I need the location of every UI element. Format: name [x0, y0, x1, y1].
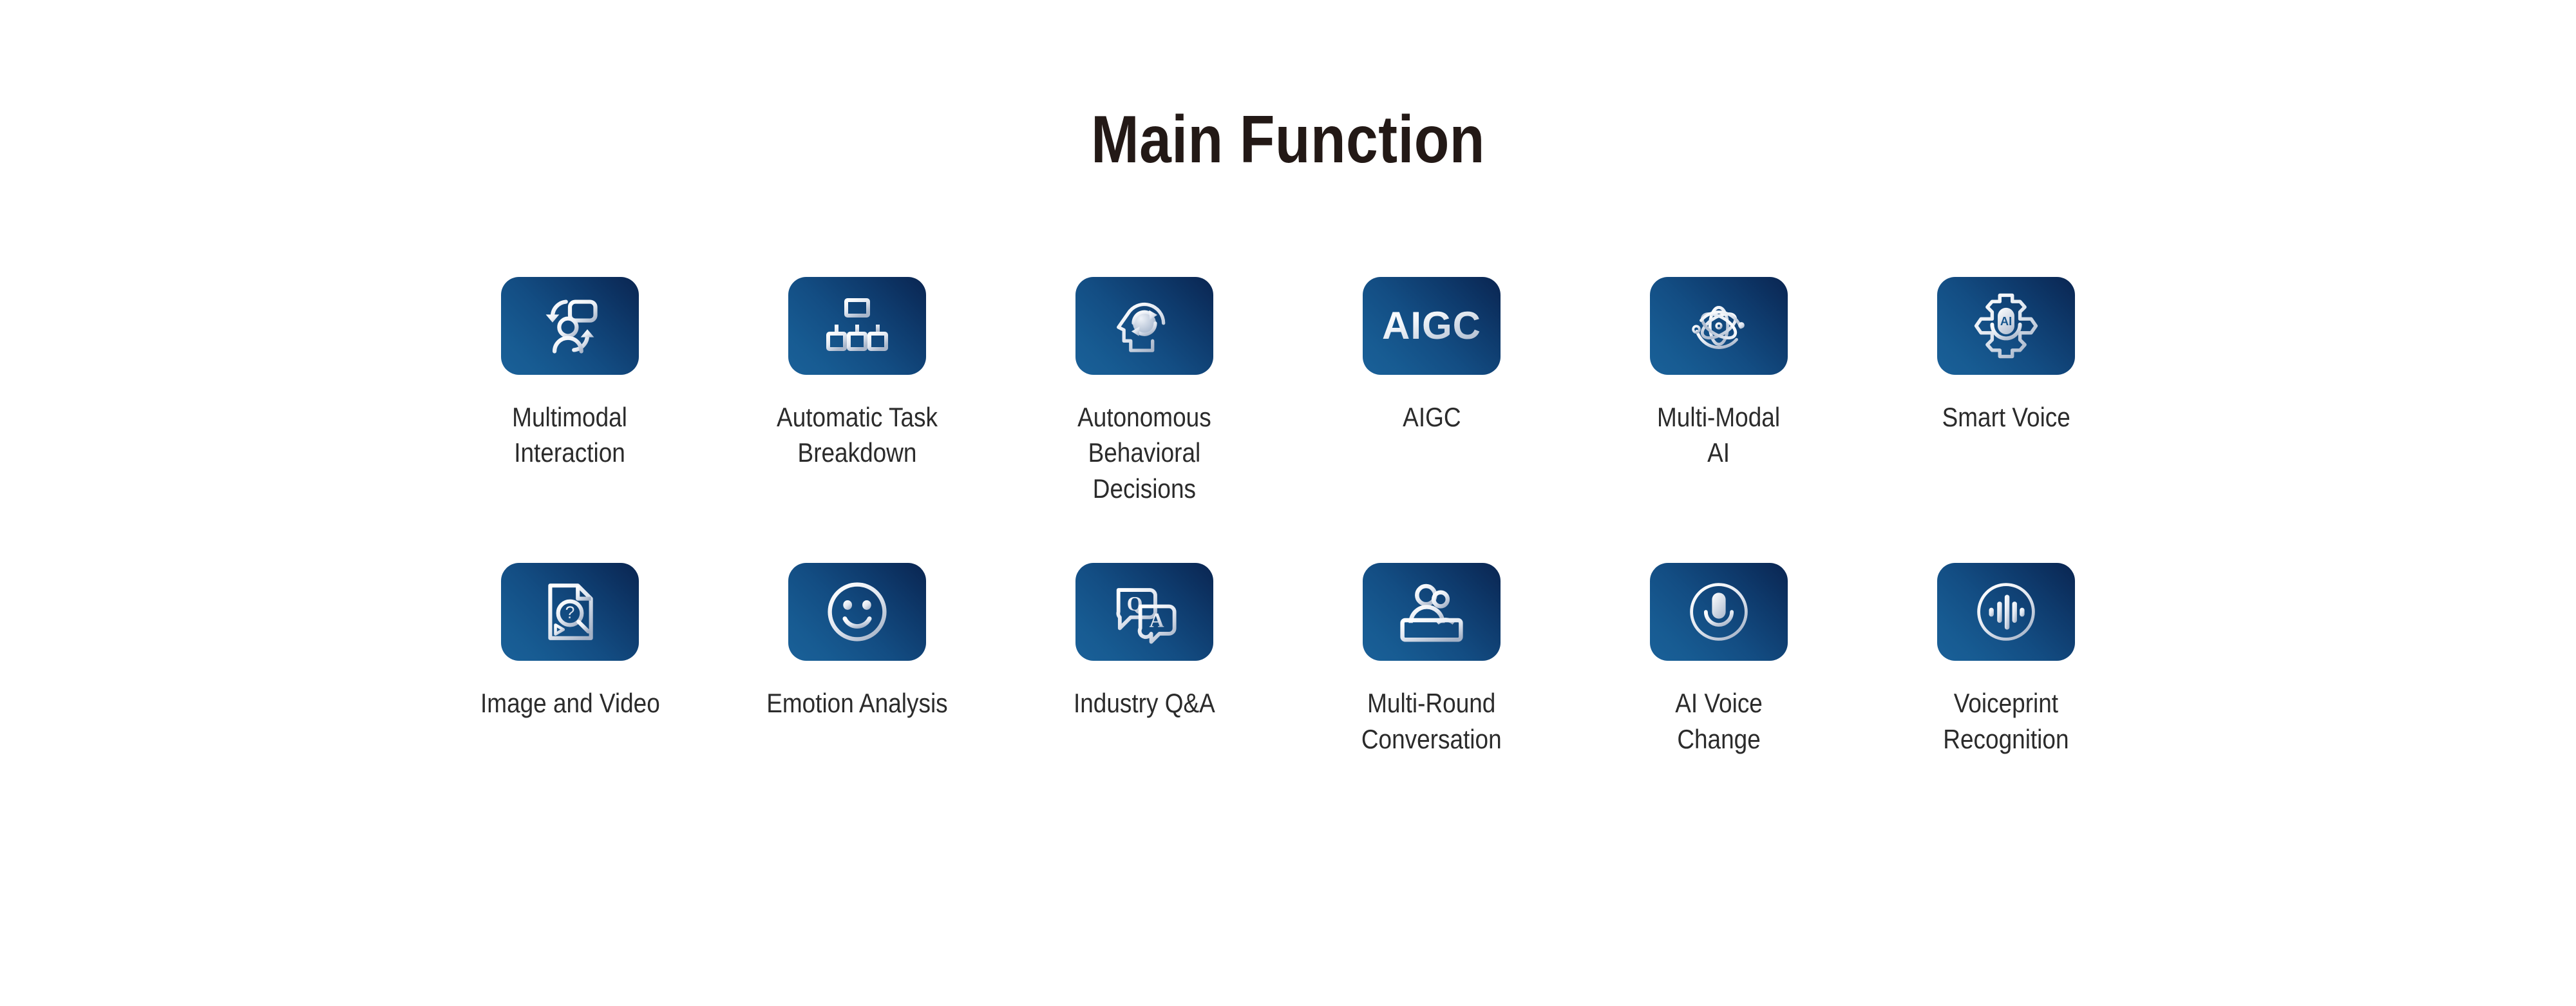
atom-orbit-icon [1685, 292, 1753, 360]
feature-item-multi-round-conversation[interactable]: Multi-Round Conversation [1288, 563, 1575, 757]
feature-label: Image and Video [480, 685, 660, 721]
feature-label: Emotion Analysis [766, 685, 947, 721]
feature-tile[interactable] [1075, 277, 1213, 375]
gear-microphone-ai-icon: AI [1971, 291, 2041, 361]
main-function-panel: Main Function [0, 0, 2576, 1006]
feature-item-smart-voice[interactable]: AI Smart Voice [1862, 277, 2150, 435]
feature-label: Multi-Modal AI [1657, 399, 1780, 471]
svg-text:AI: AI [2000, 314, 2012, 328]
feature-label: Multimodal Interaction [513, 399, 628, 471]
head-refresh-brain-icon [1110, 292, 1179, 360]
feature-label: Industry Q&A [1074, 685, 1215, 721]
feature-label: Multi-Round Conversation [1361, 685, 1502, 757]
feature-item-emotion-analysis[interactable]: Emotion Analysis [714, 563, 1001, 721]
feature-label: Automatic Task Breakdown [777, 399, 938, 471]
feature-grid: Multimodal Interaction [0, 277, 2576, 757]
feature-item-image-and-video[interactable]: ? Image and Video [426, 563, 714, 721]
feature-tile[interactable] [788, 563, 926, 661]
qa-speech-bubbles-icon: Q A [1110, 578, 1179, 646]
feature-item-ai-voice-change[interactable]: AI Voice Change [1575, 563, 1862, 757]
feature-row-1: Multimodal Interaction [0, 277, 2576, 506]
svg-text:?: ? [565, 603, 575, 623]
feature-item-voiceprint-recognition[interactable]: Voiceprint Recognition [1862, 563, 2150, 757]
task-breakdown-hierarchy-icon [825, 294, 889, 358]
svg-text:A: A [1150, 609, 1164, 632]
feature-item-autonomous-behavioral-decisions[interactable]: Autonomous Behavioral Decisions [1001, 277, 1288, 506]
voiceprint-waveform-icon [1972, 578, 2040, 646]
feature-item-automatic-task-breakdown[interactable]: Automatic Task Breakdown [714, 277, 1001, 471]
feature-tile[interactable]: Q A [1075, 563, 1213, 661]
feature-tile[interactable]: ? [501, 563, 639, 661]
feature-item-industry-qa[interactable]: Q A Industry Q&A [1001, 563, 1288, 721]
smiley-face-icon [823, 578, 891, 646]
feature-tile[interactable] [788, 277, 926, 375]
feature-tile[interactable] [1363, 563, 1501, 661]
feature-tile[interactable] [1650, 277, 1788, 375]
aigc-text-icon: AIGC [1382, 307, 1481, 345]
feature-tile[interactable]: AIGC [1363, 277, 1501, 375]
feature-tile[interactable] [1650, 563, 1788, 661]
microphone-circle-icon [1685, 578, 1753, 646]
feature-item-multimodal-interaction[interactable]: Multimodal Interaction [426, 277, 714, 471]
feature-item-multi-modal-ai[interactable]: Multi-Modal AI [1575, 277, 1862, 471]
feature-tile[interactable] [501, 277, 639, 375]
feature-label: Voiceprint Recognition [1943, 685, 2069, 757]
page-title: Main Function [180, 103, 2396, 176]
feature-label: Autonomous Behavioral Decisions [1077, 399, 1211, 506]
multimodal-interaction-icon [536, 292, 603, 359]
feature-label: Smart Voice [1942, 399, 2070, 435]
group-conversation-icon [1397, 577, 1466, 647]
feature-label: AIGC [1403, 399, 1461, 435]
document-search-play-icon: ? [537, 579, 603, 645]
feature-label: AI Voice Change [1675, 685, 1763, 757]
feature-tile[interactable]: AI [1937, 277, 2075, 375]
feature-item-aigc[interactable]: AIGC AIGC [1288, 277, 1575, 435]
feature-tile[interactable] [1937, 563, 2075, 661]
feature-row-2: ? Image and Video [0, 563, 2576, 757]
